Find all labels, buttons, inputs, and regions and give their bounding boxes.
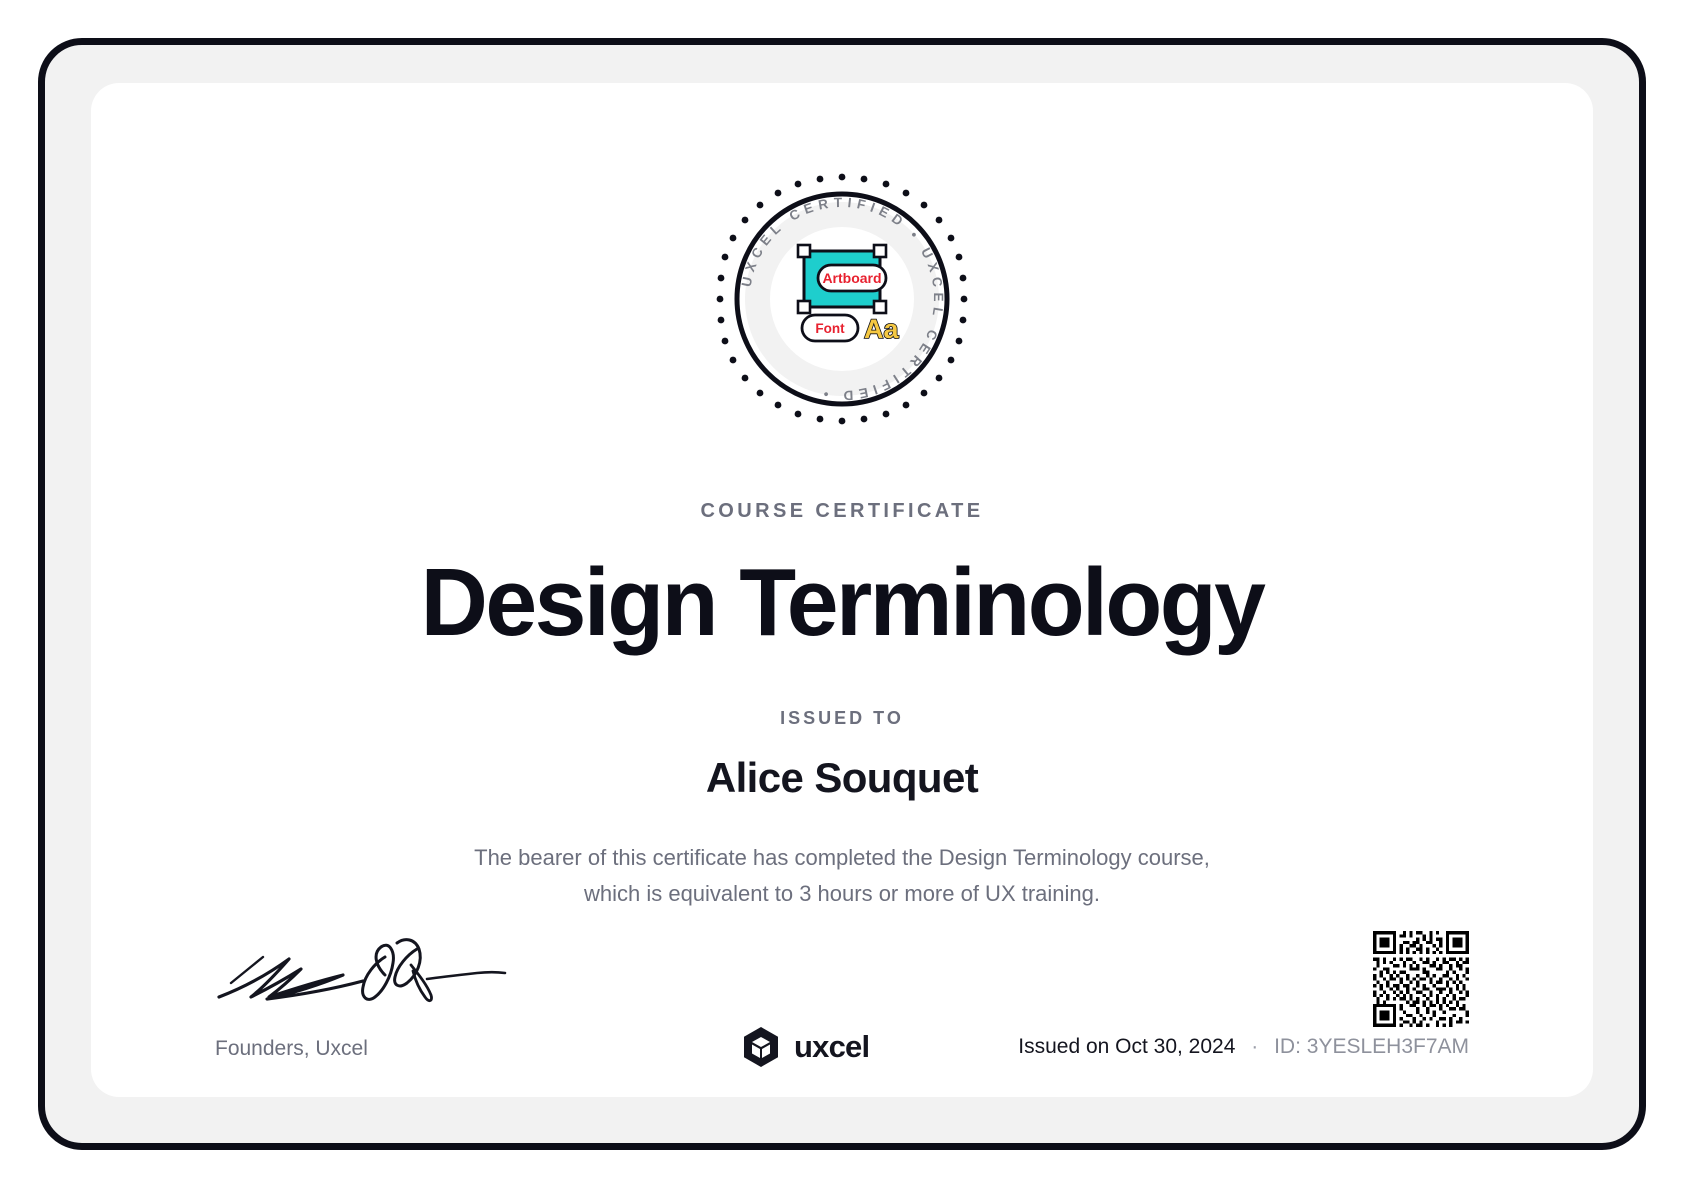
seal-font-graphic: Font Aa xyxy=(802,314,899,344)
certificate-id: ID: 3YESLEH3F7AM xyxy=(1274,1035,1469,1058)
issue-date: Issued on Oct 30, 2024 xyxy=(1018,1035,1235,1058)
uxcel-wordmark: uxcel xyxy=(794,1029,869,1065)
seal-type-sample: Aa xyxy=(864,314,899,344)
certificate-kicker: COURSE CERTIFICATE xyxy=(91,500,1593,523)
certificate-description: The bearer of this certificate has compl… xyxy=(91,840,1593,912)
seal-artboard-label: Artboard xyxy=(822,270,881,286)
issued-to-label: ISSUED TO xyxy=(91,708,1593,729)
uxcel-brand-lockup: uxcel xyxy=(740,1026,869,1068)
founder-signatures-icon xyxy=(215,935,515,1015)
signature-block: Founders, Uxcel xyxy=(215,935,535,1061)
verification-qr-code[interactable] xyxy=(1373,931,1469,1027)
description-line-2: which is equivalent to 3 hours or more o… xyxy=(91,876,1593,912)
course-title: Design Terminology xyxy=(114,553,1571,654)
seal-font-label: Font xyxy=(815,321,845,336)
signature-caption: Founders, Uxcel xyxy=(215,1037,535,1061)
issue-metadata: Issued on Oct 30, 2024 · ID: 3YESLEH3F7A… xyxy=(1018,1035,1469,1059)
certificate-panel: UXCEL CERTIFIED • UXCEL CERTIFIED • Artb… xyxy=(91,83,1593,1097)
meta-separator: · xyxy=(1241,1035,1268,1058)
certificate-frame: UXCEL CERTIFIED • UXCEL CERTIFIED • Artb… xyxy=(38,38,1646,1150)
description-line-1: The bearer of this certificate has compl… xyxy=(91,840,1593,876)
recipient-name: Alice Souquet xyxy=(91,754,1593,802)
certified-seal: UXCEL CERTIFIED • UXCEL CERTIFIED • Artb… xyxy=(708,165,976,433)
uxcel-hexagon-logo-icon xyxy=(740,1026,782,1068)
seal-artboard-graphic: Artboard xyxy=(798,245,886,313)
